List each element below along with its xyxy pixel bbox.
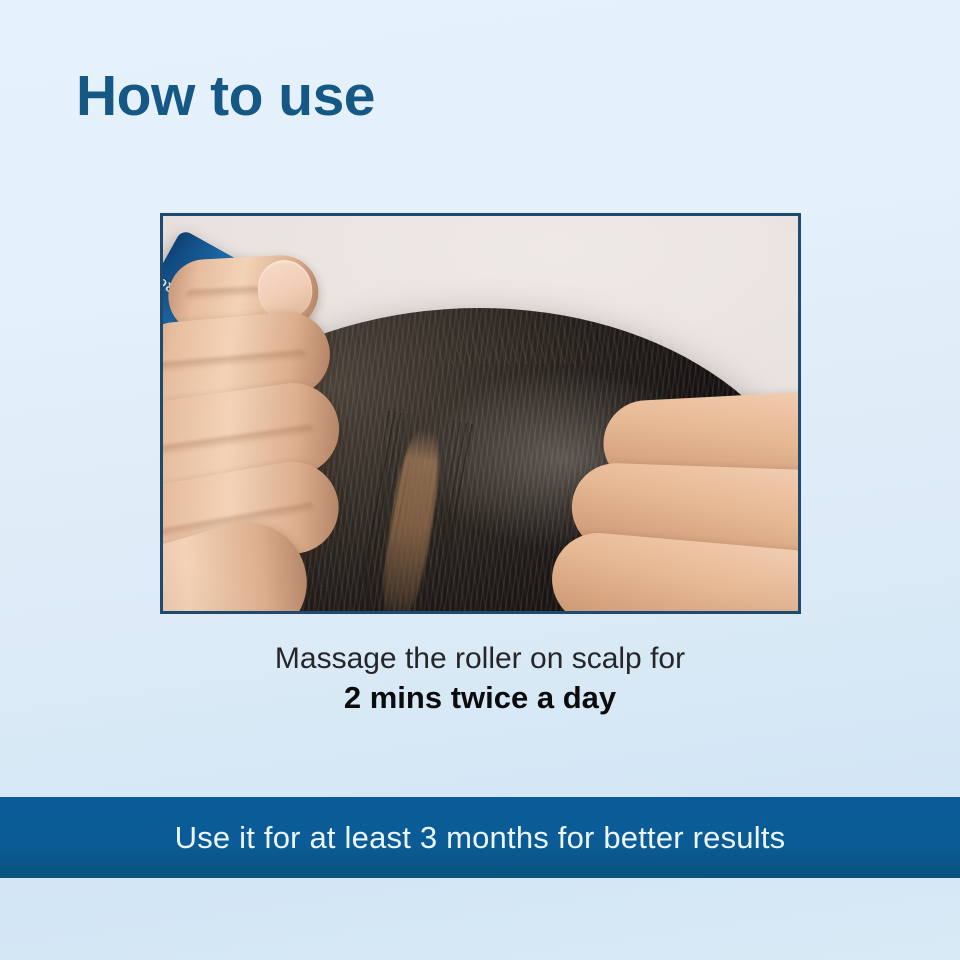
banner-text: Use it for at least 3 months for better … [175,820,786,856]
photo-stage: For Women Hair Growth Serum Roll-on W Bo… [163,216,798,611]
how-to-use-poster: How to use For Women [0,0,960,960]
caption-line-emphasis: 2 mins twice a day [0,678,960,718]
caption-block: Massage the roller on scalp for 2 mins t… [0,640,960,718]
bottom-banner: Use it for at least 3 months for better … [0,797,960,878]
right-hand [532,368,798,611]
page-title: How to use [76,66,375,128]
caption-line-primary: Massage the roller on scalp for [0,640,960,678]
instruction-photo: For Women Hair Growth Serum Roll-on W Bo… [160,213,801,614]
